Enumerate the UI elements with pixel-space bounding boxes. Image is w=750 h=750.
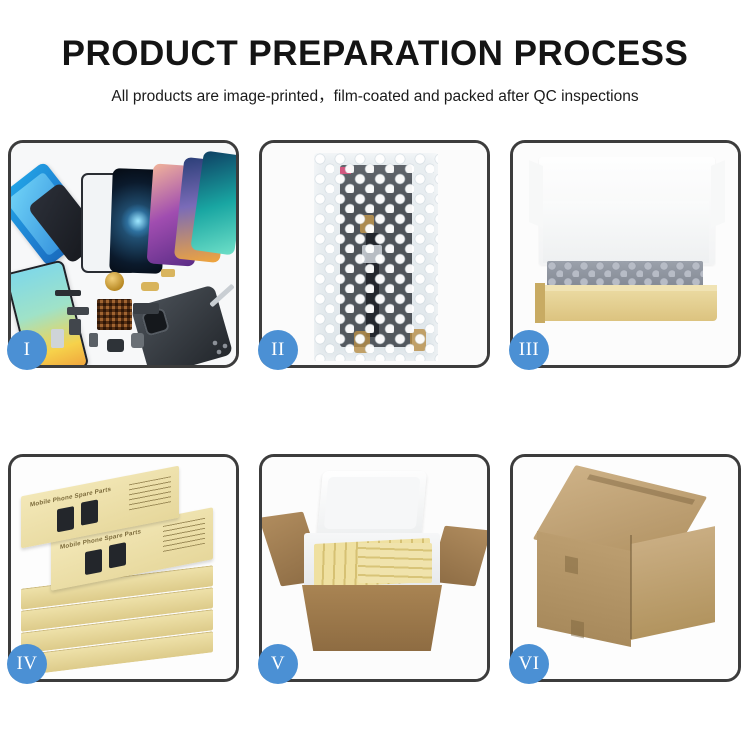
header: PRODUCT PREPARATION PROCESS All products… <box>0 0 750 106</box>
process-step-panel-6: VI <box>510 454 741 682</box>
product-preparation-infographic: PRODUCT PREPARATION PROCESS All products… <box>0 0 750 750</box>
spare-part <box>107 339 124 352</box>
box-stack: Mobile Phone Spare Parts Mobile Phone Sp… <box>17 475 231 671</box>
carton-body <box>302 585 442 651</box>
copper-coil-part <box>105 272 124 291</box>
step-image-stacked-retail-boxes: Mobile Phone Spare Parts Mobile Phone Sp… <box>11 457 236 679</box>
process-step-panel-5: V <box>259 454 490 682</box>
spare-part <box>141 282 159 291</box>
process-step-panel-3: III <box>510 140 741 368</box>
box-spec-lines <box>163 518 205 552</box>
box-art-screen <box>81 499 98 525</box>
bubble-texture <box>314 153 438 361</box>
spare-part <box>89 333 98 347</box>
kraft-tray-side <box>535 283 545 323</box>
step-image-bubble-wrapped-screen <box>262 143 487 365</box>
spare-part <box>55 290 81 296</box>
foam-back-panel <box>543 201 709 263</box>
step-badge-5: V <box>258 644 298 684</box>
box-art-screen <box>109 542 126 568</box>
spare-part <box>131 333 144 348</box>
box-spec-lines <box>129 476 171 510</box>
step-badge-1: I <box>7 330 47 370</box>
step-image-open-kraft-tray <box>513 143 738 365</box>
step-badge-4: IV <box>7 644 47 684</box>
bubble-wrap-bag <box>314 153 438 361</box>
box-label-text: Mobile Phone Spare Parts <box>30 486 111 509</box>
process-step-panel-2: II <box>259 140 490 368</box>
process-step-panel-1: I <box>8 140 239 368</box>
spare-part <box>133 303 159 314</box>
foam-box-lid <box>317 471 427 537</box>
step-image-sealed-shipping-carton <box>513 457 738 679</box>
page-title: PRODUCT PREPARATION PROCESS <box>0 0 750 73</box>
step-badge-6: VI <box>509 644 549 684</box>
kraft-tray-body <box>535 291 717 321</box>
spare-part <box>161 269 175 277</box>
carton-front-face <box>537 531 631 647</box>
chip-array-part <box>97 299 132 330</box>
carton-side-face <box>631 526 715 640</box>
spare-part <box>67 307 89 315</box>
box-art-screen <box>57 506 74 532</box>
carton-tape-mark <box>565 556 578 575</box>
page-subtitle: All products are image-printed，film-coat… <box>0 73 750 106</box>
step-image-carton-with-foam-liner <box>262 457 487 679</box>
process-step-grid: I II <box>8 140 742 692</box>
process-step-panel-4: Mobile Phone Spare Parts Mobile Phone Sp… <box>8 454 239 682</box>
step-image-phone-parts-collage <box>11 143 236 365</box>
spare-part <box>69 319 81 335</box>
box-art-screen <box>85 549 102 575</box>
spare-part <box>51 329 64 348</box>
carton-vertical-edge <box>630 535 632 639</box>
carton-tape-mark <box>571 620 584 639</box>
screws-group <box>211 339 233 355</box>
step-badge-2: II <box>258 330 298 370</box>
step-badge-3: III <box>509 330 549 370</box>
yellow-boxes-row <box>358 543 432 583</box>
